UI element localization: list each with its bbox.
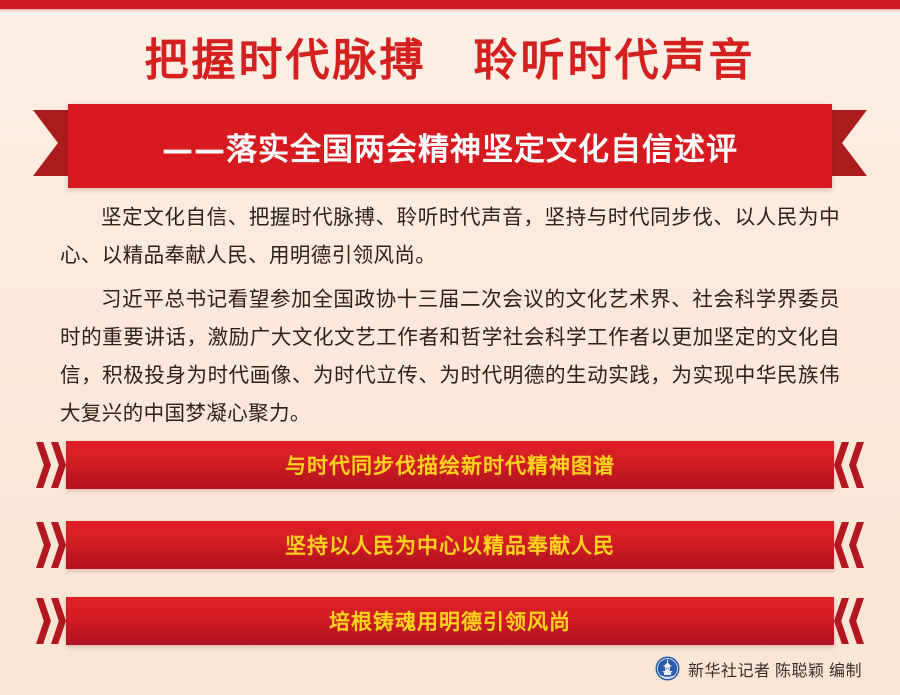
chevron-right-icon (51, 598, 66, 644)
credit-text: 新华社记者 陈聪颖 编制 (688, 657, 862, 681)
section-bar-2[interactable]: 坚持以人民为中心以精品奉献人民 (36, 521, 864, 569)
section-bar-3[interactable]: 培根铸魂用明德引领风尚 (36, 597, 864, 645)
section-bar-label: 坚持以人民为中心以精品奉献人民 (66, 521, 834, 569)
chevron-left-icon (834, 598, 849, 644)
page-title: 把握时代脉搏 聆听时代声音 (0, 33, 900, 88)
credit-line: 新华社记者 陈聪颖 编制 (655, 656, 862, 681)
chevron-left-icon-group-right (828, 521, 864, 569)
xinhua-pagoda-icon (655, 656, 680, 681)
top-red-strip (0, 0, 900, 9)
chevron-right-icon (36, 442, 51, 488)
chevron-left-icon-group-right (828, 597, 864, 645)
chevron-right-icon (36, 598, 51, 644)
chevron-right-icon (36, 522, 51, 568)
subtitle-ribbon: ——落实全国两会精神坚定文化自信述评 (0, 104, 900, 188)
subtitle-text: ——落实全国两会精神坚定文化自信述评 (68, 104, 832, 188)
chevron-left-icon (834, 442, 849, 488)
chevron-left-icon (849, 442, 864, 488)
chevron-right-icon (51, 442, 66, 488)
chevron-left-icon (849, 522, 864, 568)
body-copy: 坚定文化自信、把握时代脉搏、聆听时代声音，坚持与时代同步伐、以人民为中心、以精品… (60, 199, 840, 439)
paragraph-1: 坚定文化自信、把握时代脉搏、聆听时代声音，坚持与时代同步伐、以人民为中心、以精品… (60, 199, 840, 275)
top-strip-shadow (0, 9, 900, 12)
paragraph-2: 习近平总书记看望参加全国政协十三届二次会议的文化艺术界、社会科学界委员时的重要讲… (60, 281, 840, 433)
section-bar-label: 培根铸魂用明德引领风尚 (66, 597, 834, 645)
section-bar-label: 与时代同步伐描绘新时代精神图谱 (66, 441, 834, 489)
chevron-right-icon (51, 522, 66, 568)
section-bar-1[interactable]: 与时代同步伐描绘新时代精神图谱 (36, 441, 864, 489)
chevron-left-icon (834, 522, 849, 568)
chevron-left-icon (849, 598, 864, 644)
poster-canvas: 把握时代脉搏 聆听时代声音 ——落实全国两会精神坚定文化自信述评 坚定文化自信、… (0, 0, 900, 695)
chevron-left-icon-group-right (828, 441, 864, 489)
